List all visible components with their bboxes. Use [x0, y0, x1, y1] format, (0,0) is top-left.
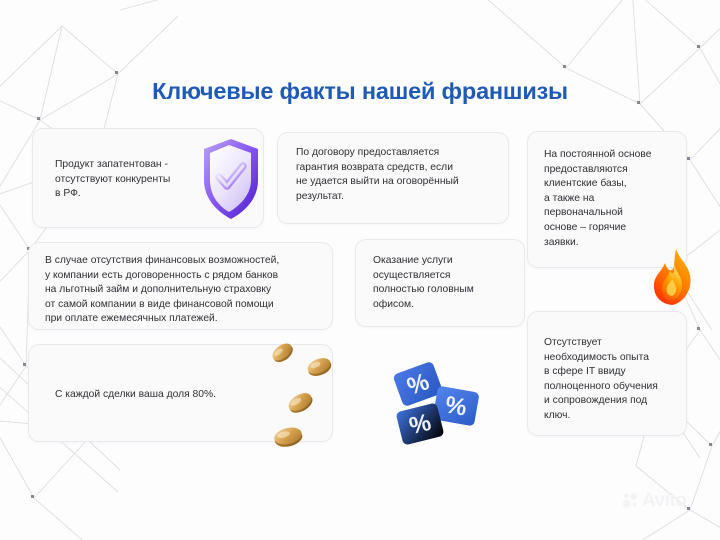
- page-title: Ключевые факты нашей франшизы: [0, 78, 720, 105]
- svg-text:%: %: [407, 409, 434, 440]
- fact-card-text: Оказание услуги осуществляется полностью…: [373, 254, 523, 312]
- svg-text:%: %: [443, 391, 469, 421]
- fact-card-financing-support[interactable]: В случае отсутствия финансовых возможнос…: [28, 242, 333, 330]
- fact-card-client-database[interactable]: На постоянной основе предоставляются кли…: [527, 131, 687, 268]
- avito-watermark-text: Avito: [642, 492, 686, 509]
- slide-canvas: Ключевые факты нашей франшизы Продукт за…: [0, 0, 720, 540]
- fact-card-text: С каждой сделки ваша доля 80%.: [55, 388, 315, 403]
- fact-card-profit-share[interactable]: С каждой сделки ваша доля 80%.: [28, 344, 333, 442]
- avito-logo-icon: [622, 492, 639, 509]
- fact-card-text: В случае отсутствия финансовых возможнос…: [45, 254, 335, 327]
- avito-watermark: Avito: [622, 492, 686, 509]
- fact-card-head-office-service[interactable]: Оказание услуги осуществляется полностью…: [355, 239, 525, 327]
- fact-card-text: По договору предоставляется гарантия воз…: [296, 146, 506, 204]
- fact-card-text: Продукт запатентован - отсутствуют конку…: [55, 158, 230, 202]
- fact-card-text: Отсутствует необходимость опыта в сфере …: [544, 336, 689, 424]
- fact-card-no-it-experience[interactable]: Отсутствует необходимость опыта в сфере …: [527, 311, 687, 436]
- percent-tags-icon: % % %: [388, 358, 492, 448]
- fact-card-text: На постоянной основе предоставляются кли…: [544, 148, 684, 250]
- fact-card-money-back-guarantee[interactable]: По договору предоставляется гарантия воз…: [277, 132, 509, 224]
- svg-text:%: %: [404, 368, 433, 401]
- fact-card-patent[interactable]: Продукт запатентован - отсутствуют конку…: [32, 128, 264, 228]
